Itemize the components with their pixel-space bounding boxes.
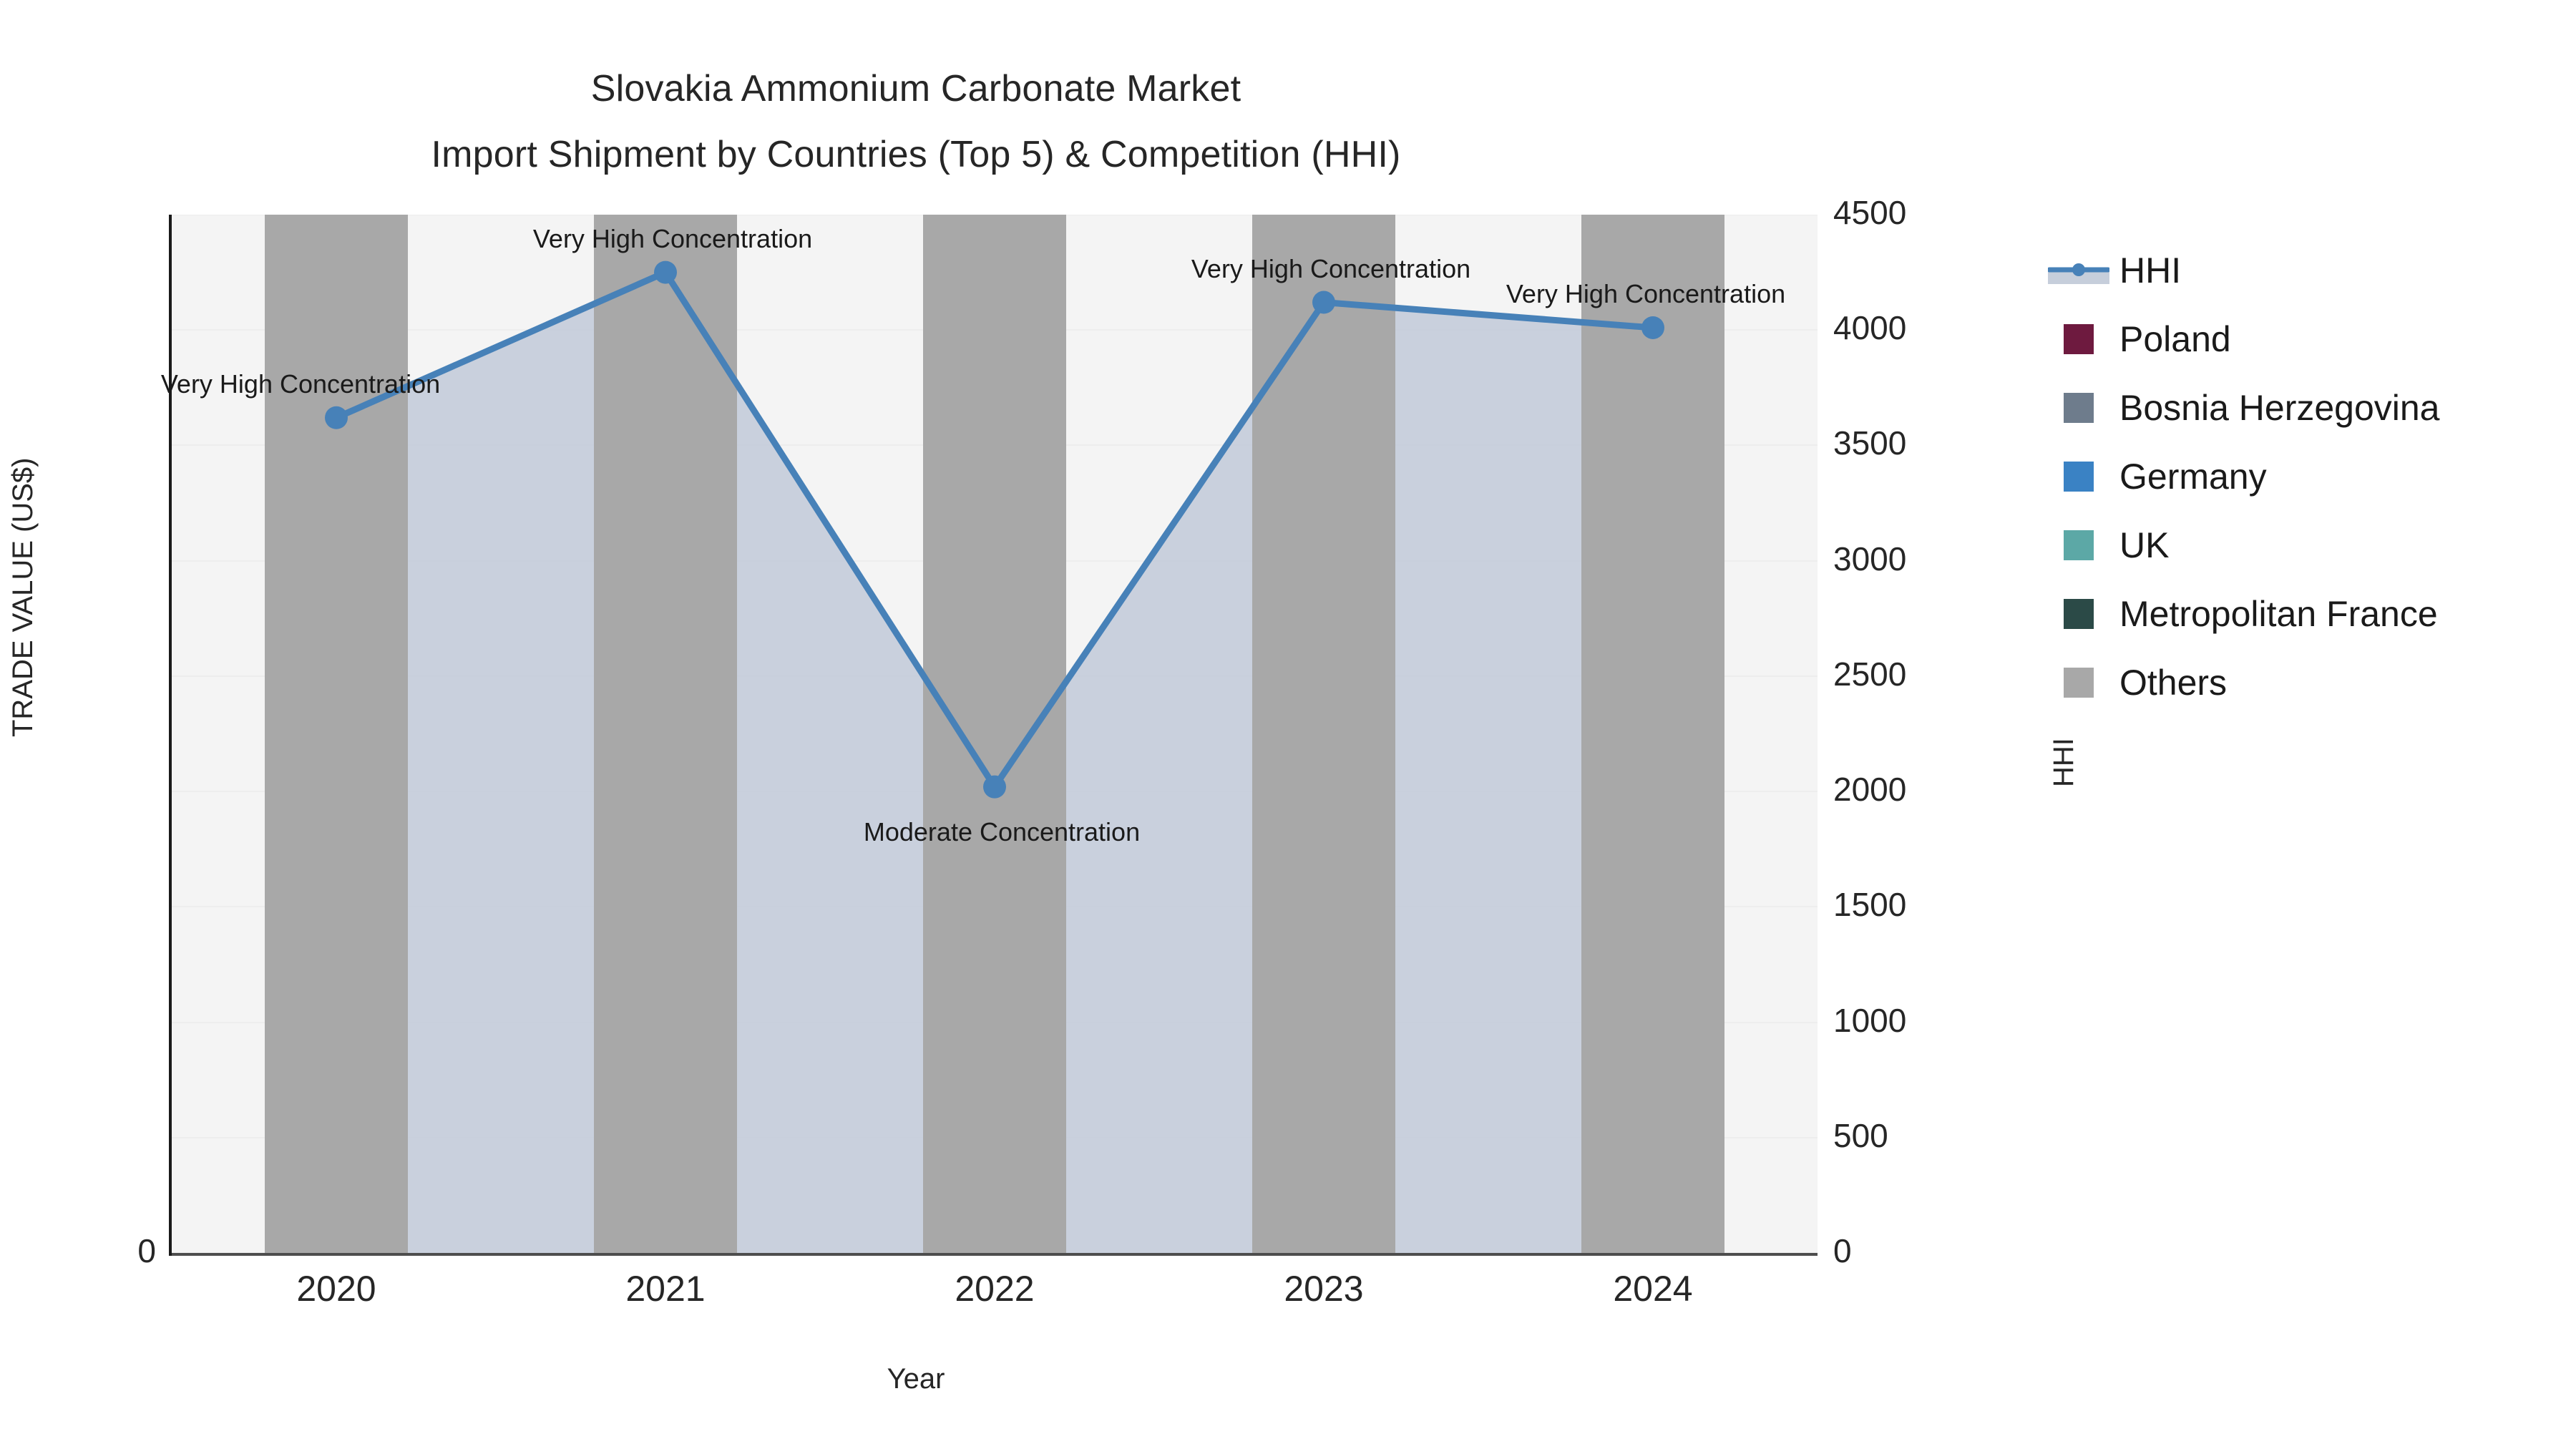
y-axis-right-tick-label: 4000 <box>1833 308 1906 347</box>
legend-swatch <box>2064 462 2094 492</box>
legend-item[interactable]: UK <box>2048 511 2440 580</box>
y-axis-right-title: HHI <box>2048 738 2080 787</box>
y-axis-right-tick-label: 4500 <box>1833 193 1906 232</box>
legend-item[interactable]: HHI <box>2048 236 2440 305</box>
legend-item[interactable]: Germany <box>2048 442 2440 511</box>
legend-swatch <box>2064 599 2094 629</box>
y-axis-right-tick-label: 500 <box>1833 1116 1888 1155</box>
bar-segment[interactable] <box>923 215 1066 1253</box>
legend-item[interactable]: Poland <box>2048 305 2440 374</box>
legend-item[interactable]: Others <box>2048 648 2440 717</box>
bar-segment[interactable] <box>594 215 737 1253</box>
chart-title-line-1: Slovakia Ammonium Carbonate Market <box>0 56 1832 122</box>
y-axis-right-tick-label: 0 <box>1833 1231 1852 1270</box>
x-axis-tick-label: 2022 <box>887 1268 1102 1309</box>
legend-swatch <box>2064 393 2094 423</box>
chart-root: Slovakia Ammonium Carbonate Market Impor… <box>0 0 2576 1449</box>
chart-title: Slovakia Ammonium Carbonate Market Impor… <box>0 56 1832 187</box>
x-axis-title: Year <box>0 1363 1832 1395</box>
bar-segment[interactable] <box>1581 215 1724 1253</box>
x-axis-tick-label: 2020 <box>229 1268 444 1309</box>
hhi-line-icon <box>2048 255 2109 286</box>
legend-item-label: HHI <box>2119 250 2181 291</box>
bar-stack[interactable] <box>923 215 1066 1253</box>
x-axis-tick-label: 2021 <box>558 1268 773 1309</box>
legend-item-label: UK <box>2119 525 2169 566</box>
chart-title-line-2: Import Shipment by Countries (Top 5) & C… <box>0 122 1832 187</box>
y-axis-right-tick-label: 3500 <box>1833 424 1906 462</box>
x-axis-spine <box>172 1253 1818 1256</box>
legend-item[interactable]: Bosnia Herzegovina <box>2048 374 2440 442</box>
concentration-annotation: Very High Concentration <box>451 224 894 254</box>
y-axis-left-tick-label: 0 <box>0 1231 156 1270</box>
concentration-annotation: Moderate Concentration <box>780 817 1224 847</box>
y-axis-right-tick-label: 1000 <box>1833 1001 1906 1040</box>
legend-item-label: Others <box>2119 662 2227 703</box>
legend-swatch <box>2064 530 2094 560</box>
y-axis-right-tick-label: 3000 <box>1833 540 1906 578</box>
bar-segment[interactable] <box>1252 215 1395 1253</box>
bar-stack[interactable] <box>1252 215 1395 1253</box>
legend-swatch <box>2064 324 2094 354</box>
legend-swatch <box>2064 668 2094 698</box>
legend-item-label: Bosnia Herzegovina <box>2119 387 2440 429</box>
bar-stack[interactable] <box>1581 215 1724 1253</box>
legend-item-label: Poland <box>2119 318 2231 360</box>
y-axis-right-tick-label: 2000 <box>1833 770 1906 809</box>
legend-item[interactable]: Metropolitan France <box>2048 580 2440 648</box>
bar-stack[interactable] <box>594 215 737 1253</box>
x-axis-tick-label: 2023 <box>1216 1268 1431 1309</box>
concentration-annotation: Very High Concentration <box>1424 279 1868 309</box>
y-axis-right-tick-label: 2500 <box>1833 655 1906 693</box>
x-axis-tick-label: 2024 <box>1546 1268 1760 1309</box>
y-axis-left-title: TRADE VALUE (US$) <box>7 458 39 737</box>
legend-item-label: Metropolitan France <box>2119 593 2438 635</box>
legend: HHIPolandBosnia HerzegovinaGermanyUKMetr… <box>2048 236 2440 717</box>
concentration-annotation: Very High Concentration <box>79 369 522 399</box>
legend-item-label: Germany <box>2119 456 2267 497</box>
y-axis-right-tick-label: 1500 <box>1833 885 1906 924</box>
